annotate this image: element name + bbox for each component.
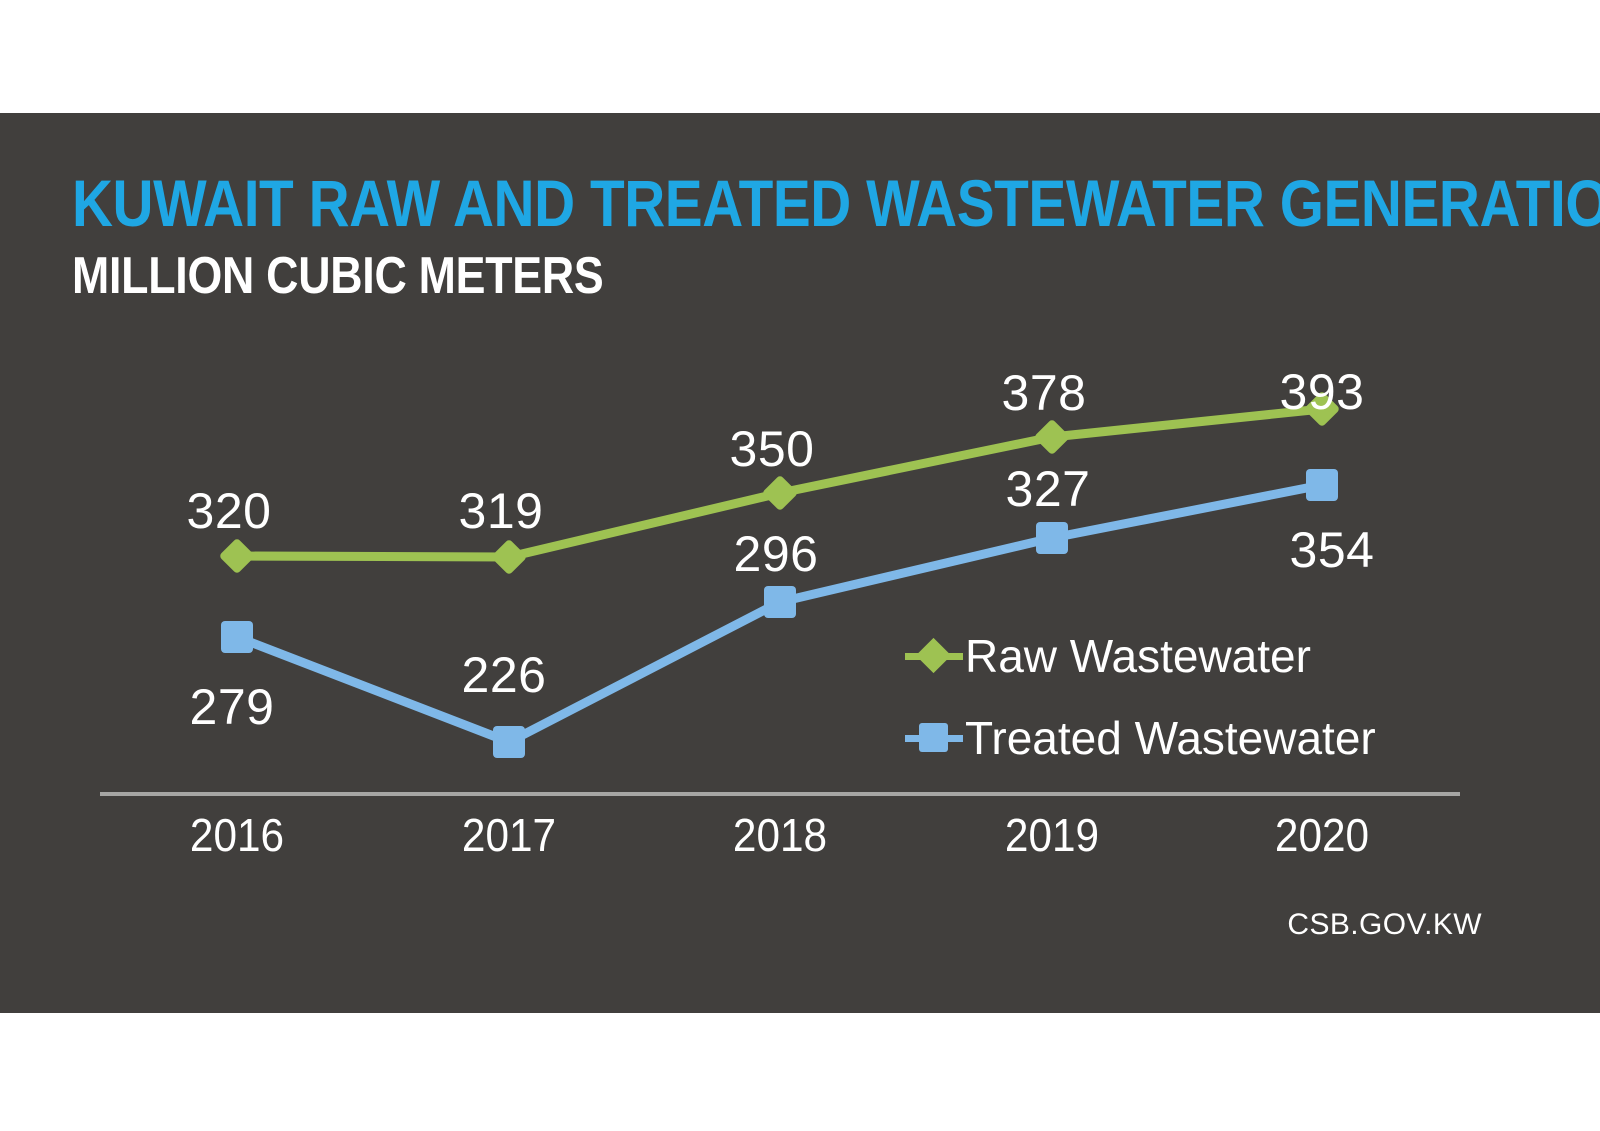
x-tick-2018: 2018: [688, 808, 872, 862]
x-tick-2019: 2019: [960, 808, 1144, 862]
legend-item-treated-wastewater[interactable]: Treated Wastewater: [905, 697, 1376, 779]
legend-item-raw-wastewater[interactable]: Raw Wastewater: [905, 615, 1376, 697]
legend-square-marker-icon: [905, 723, 963, 753]
data-label-raw-2018: 350: [692, 420, 852, 478]
data-label-treated-2017: 226: [424, 646, 584, 704]
legend-label-treated-wastewater: Treated Wastewater: [965, 711, 1376, 765]
data-label-raw-2019: 378: [964, 364, 1124, 422]
legend-label-raw-wastewater: Raw Wastewater: [965, 629, 1311, 683]
legend-diamond-marker-icon: [905, 641, 963, 671]
data-label-treated-2020: 354: [1252, 521, 1412, 579]
data-label-treated-2018: 296: [696, 525, 856, 583]
data-label-treated-2016: 279: [152, 678, 312, 736]
x-tick-2017: 2017: [417, 808, 601, 862]
x-tick-2020: 2020: [1230, 808, 1414, 862]
source-attribution: CSB.GOV.KW: [1287, 908, 1482, 942]
page-subtitle: MILLION CUBIC METERS: [72, 248, 603, 304]
chart-figure: KUWAIT RAW AND TREATED WASTEWATER GENERA…: [0, 0, 1600, 1131]
page-title: KUWAIT RAW AND TREATED WASTEWATER GENERA…: [72, 168, 1600, 238]
x-tick-2016: 2016: [145, 808, 329, 862]
chart-legend: Raw Wastewater Treated Wastewater: [905, 615, 1376, 779]
data-label-raw-2017: 319: [421, 482, 581, 540]
data-label-raw-2020: 393: [1242, 363, 1402, 421]
x-axis-line: [100, 792, 1460, 796]
data-label-treated-2019: 327: [968, 460, 1128, 518]
data-label-raw-2016: 320: [149, 482, 309, 540]
